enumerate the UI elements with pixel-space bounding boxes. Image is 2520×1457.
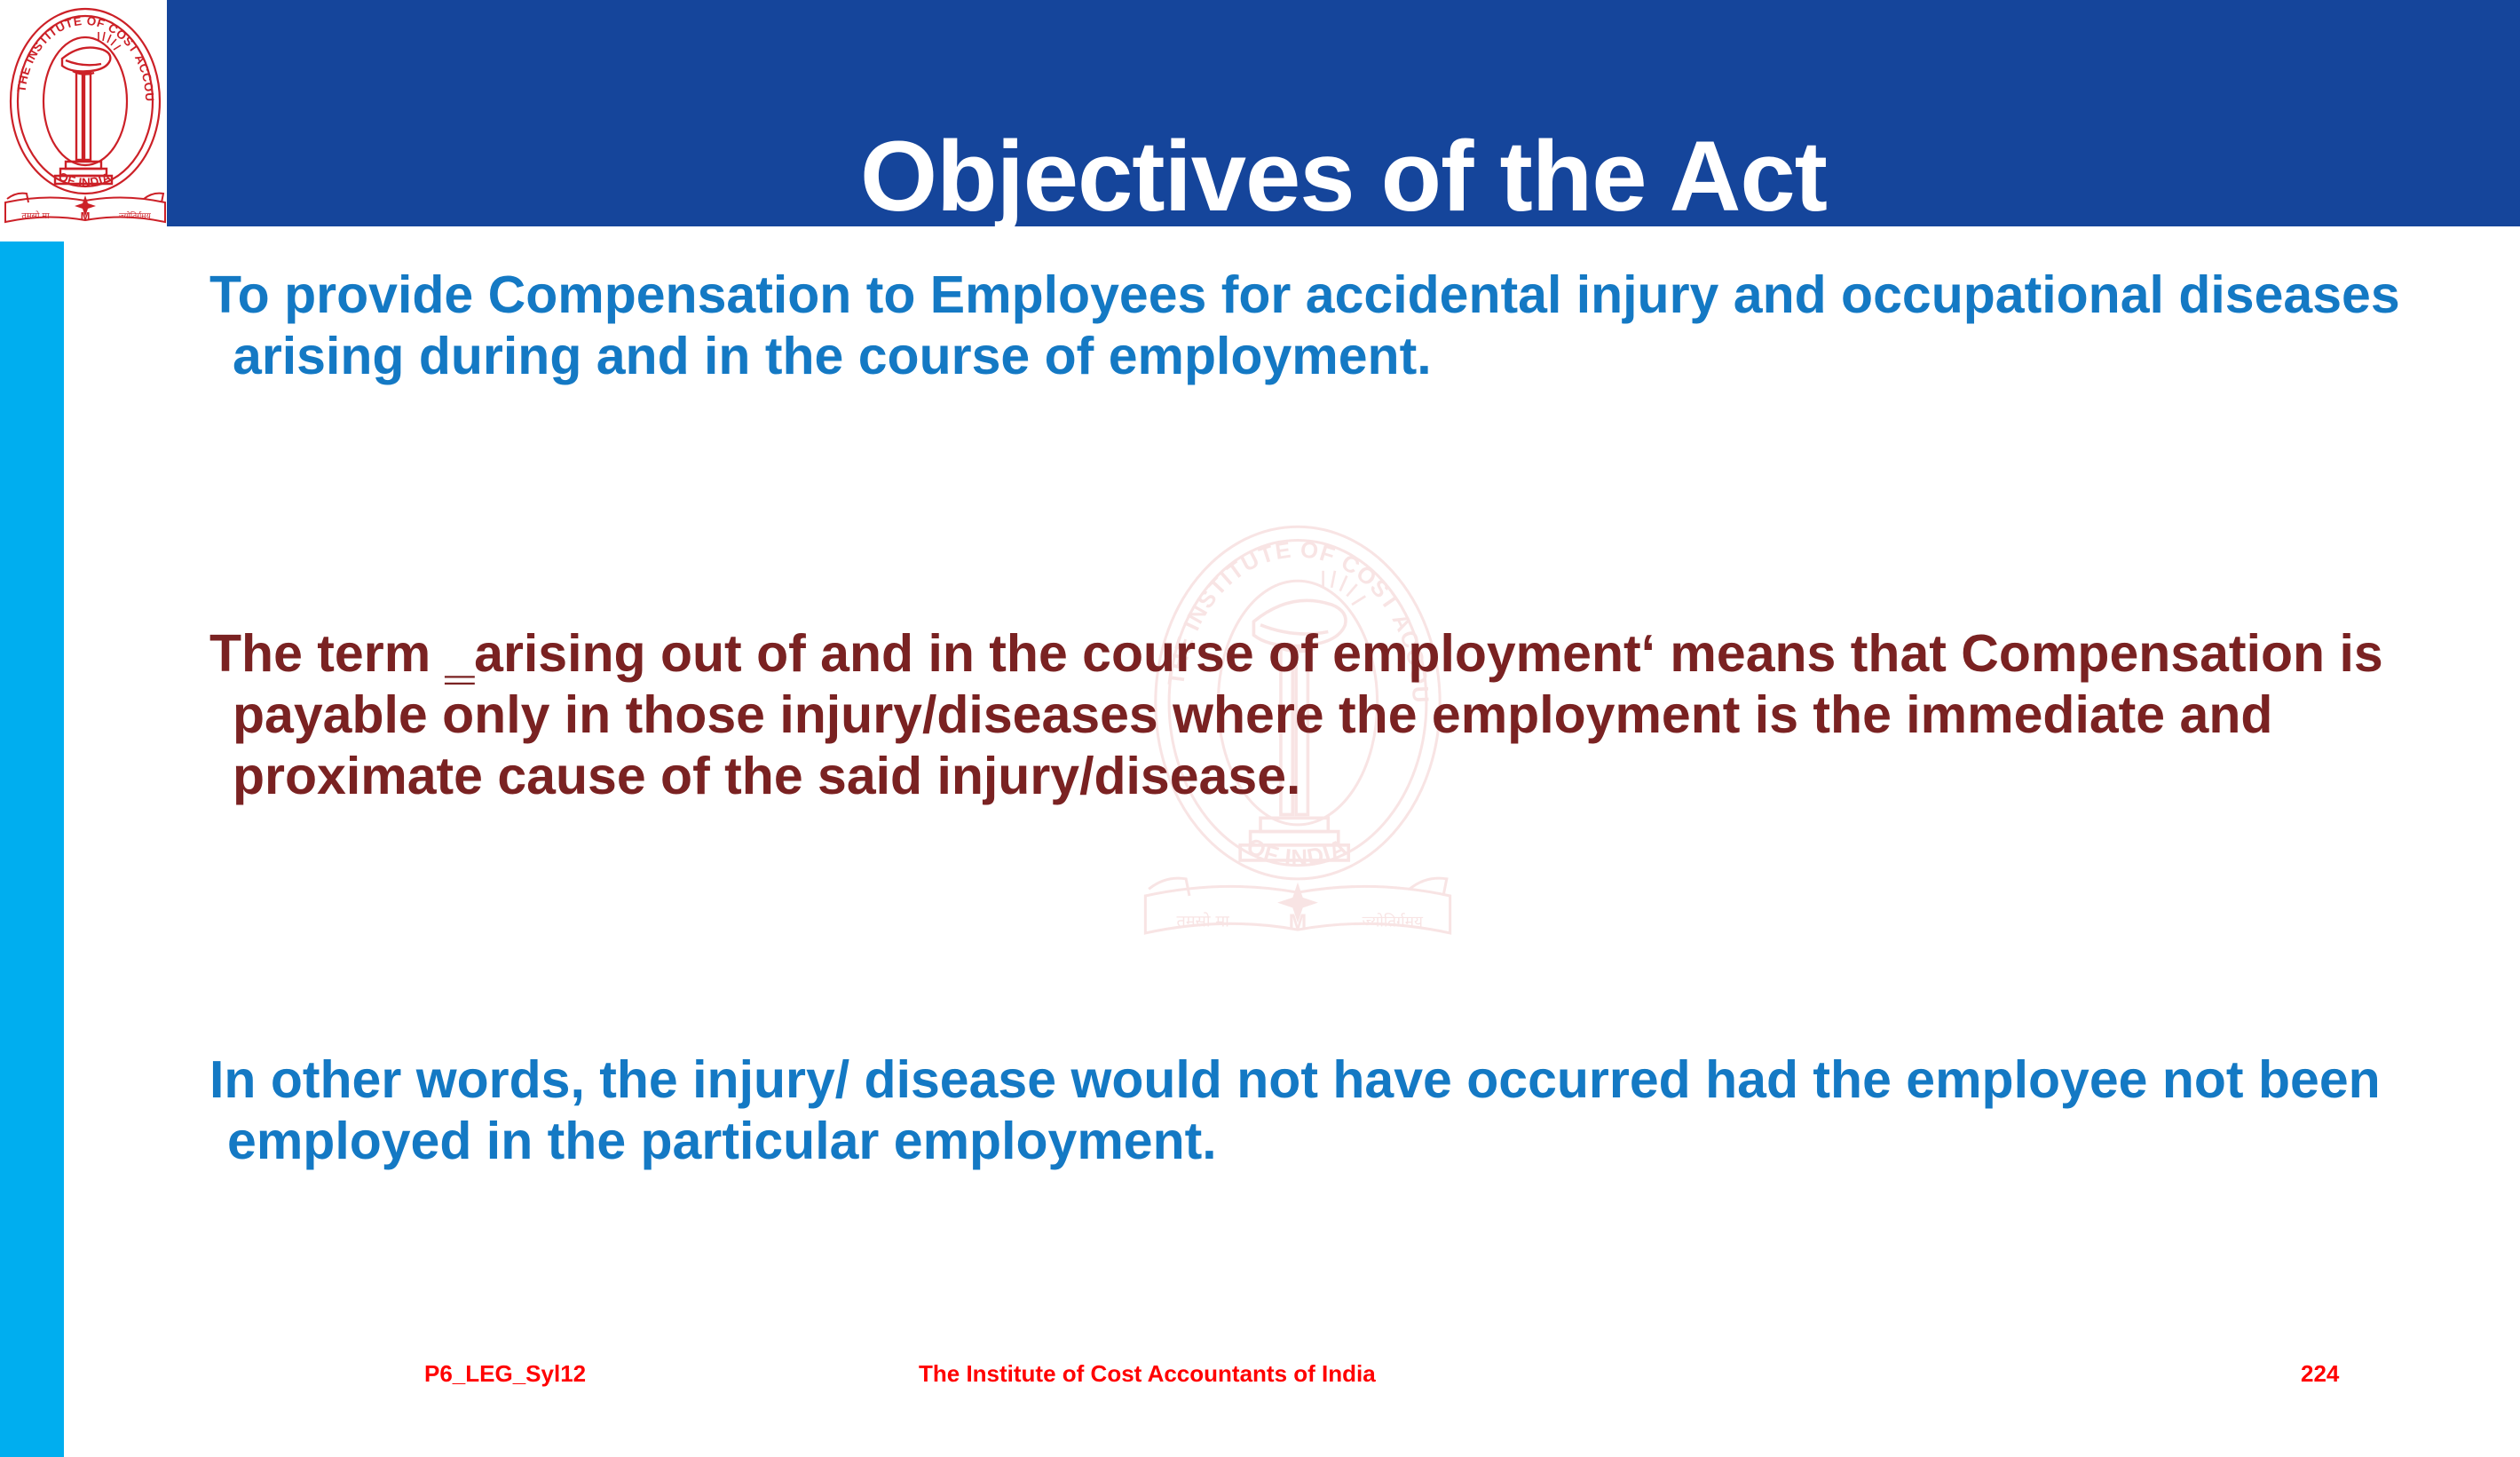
paragraph-in-other-words: In other words, the injury/ disease woul…	[209, 1049, 2411, 1172]
slide-footer: P6_LEG_Syl12 The Institute of Cost Accou…	[0, 1348, 2520, 1401]
svg-text:OF INDIA: OF INDIA	[57, 170, 114, 189]
svg-text:THE INSTITUTE OF COST ACCOUNTA: THE INSTITUTE OF COST ACCOUNTANTS	[4, 2, 156, 102]
paragraph-objective-statement: To provide Compensation to Employees for…	[209, 265, 2416, 387]
footer-syllabus-code: P6_LEG_Syl12	[424, 1360, 586, 1388]
footer-page-number: 224	[2301, 1360, 2339, 1388]
svg-text:M: M	[81, 210, 91, 223]
svg-text:ज्योतिर्गमय: ज्योतिर्गमय	[119, 210, 152, 221]
slide-body: To provide Compensation to Employees for…	[178, 242, 2485, 1334]
svg-text:तमसो मा: तमसो मा	[21, 210, 50, 221]
institute-logo: THE INSTITUTE OF COST ACCOUNTANTS OF IND…	[4, 2, 167, 231]
left-accent-bar	[0, 242, 64, 1457]
institute-logo-graphic: THE INSTITUTE OF COST ACCOUNTANTS OF IND…	[4, 2, 167, 231]
footer-organization: The Institute of Cost Accountants of Ind…	[919, 1360, 1376, 1388]
paragraph-term-definition: The term ‗arising out of and in the cour…	[209, 623, 2434, 807]
